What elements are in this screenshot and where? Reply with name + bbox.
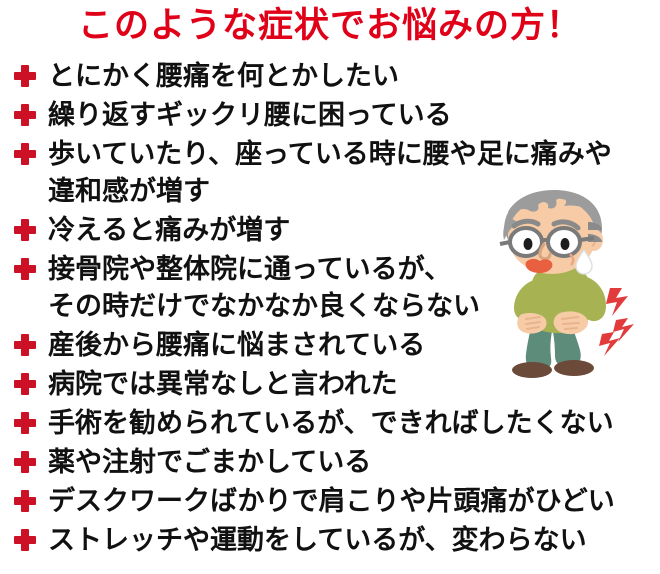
red-cross-icon (14, 334, 36, 356)
list-item-line: 手術を勧められているが、できればしたくない (48, 405, 650, 442)
glasses-temple-left (500, 242, 510, 244)
red-cross-icon (14, 490, 36, 512)
symptom-checklist-page: このような症状でお悩みの方！ とにかく腰痛を何とかしたい 繰り返すギックリ腰に困… (0, 0, 660, 574)
list-item: 薬や注射でごまかしている (10, 444, 650, 481)
list-item: 手術を勧められているが、できればしたくない (10, 405, 650, 442)
list-item: 繰り返すギックリ腰に困っている (10, 97, 650, 134)
pain-bolt-3 (599, 332, 620, 356)
page-title: このような症状でお悩みの方！ (0, 2, 660, 50)
pain-bolt-2 (613, 318, 634, 342)
elderly-man-back-pain-illustration (470, 188, 660, 393)
red-cross-icon (14, 104, 36, 126)
list-item: とにかく腰痛を何とかしたい (10, 58, 650, 95)
red-cross-icon (14, 65, 36, 87)
left-eye (524, 238, 533, 250)
list-item: デスクワークばかりで肩こりや片頭痛がひどい (10, 483, 650, 520)
list-item-text: 手術を勧められているが、できればしたくない (48, 405, 650, 442)
pain-bolt-1 (606, 288, 628, 316)
red-cross-icon (14, 143, 36, 165)
list-item: ストレッチや運動をしているが、変わらない (10, 522, 650, 559)
list-item-text: デスクワークばかりで肩こりや片頭痛がひどい (48, 483, 650, 520)
glasses-temple-right (580, 238, 594, 240)
list-item-text: 繰り返すギックリ腰に困っている (48, 97, 650, 134)
red-cross-icon (14, 219, 36, 241)
red-cross-icon (14, 451, 36, 473)
list-item-line: デスクワークばかりで肩こりや片頭痛がひどい (48, 483, 650, 520)
list-item-text: ストレッチや運動をしているが、変わらない (48, 522, 650, 559)
list-item-text: とにかく腰痛を何とかしたい (48, 58, 650, 95)
right-sleeve (580, 276, 606, 321)
right-eye (561, 238, 570, 250)
red-cross-icon (14, 258, 36, 280)
list-item-line: とにかく腰痛を何とかしたい (48, 58, 650, 95)
left-shoe (512, 362, 552, 378)
list-item-line: 薬や注射でごまかしている (48, 444, 650, 481)
right-shoe (554, 360, 594, 376)
list-item-line: 繰り返すギックリ腰に困っている (48, 97, 650, 134)
red-cross-icon (14, 529, 36, 551)
red-cross-icon (14, 412, 36, 434)
list-item-line: 歩いていたり、座っている時に腰や足に痛みや (48, 136, 650, 173)
list-item-text: 薬や注射でごまかしている (48, 444, 650, 481)
red-cross-icon (14, 373, 36, 395)
list-item-line: ストレッチや運動をしているが、変わらない (48, 522, 650, 559)
